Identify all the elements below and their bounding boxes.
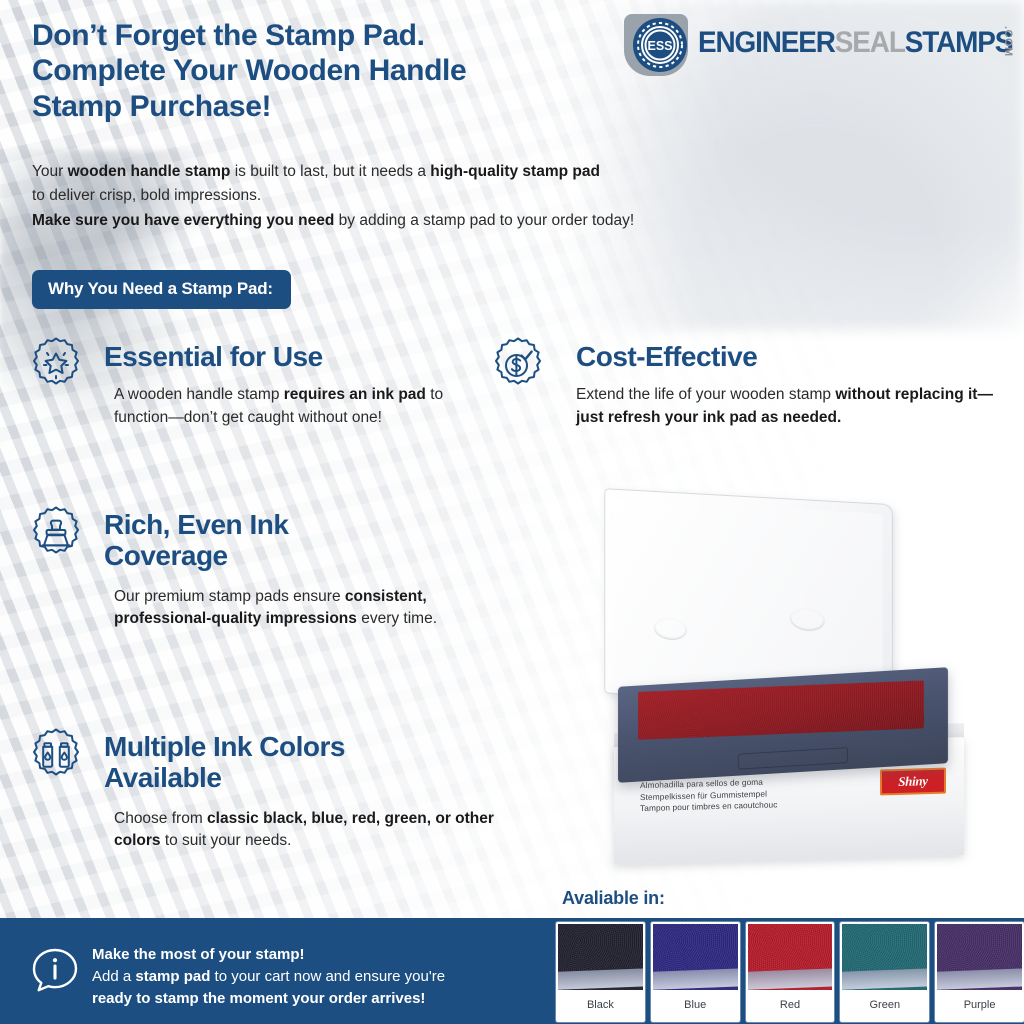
- feature-body-bold: requires an ink pad: [284, 386, 426, 403]
- feature-title-line-1: Multiple Ink Colors: [104, 731, 345, 762]
- feature-body: A wooden handle stamp requires an ink pa…: [114, 384, 499, 429]
- badge-ink-bottles-icon: [28, 727, 84, 783]
- swatch-pad-blue: [653, 924, 738, 990]
- feature-body-pre: A wooden handle stamp: [114, 386, 284, 403]
- shiny-brand-logo: Shiny: [880, 768, 946, 796]
- feature-body: Choose from classic black, blue, red, gr…: [114, 808, 534, 853]
- product-base-tray: [618, 667, 948, 783]
- logo-word-stamps: STAMPS: [905, 26, 1013, 60]
- swatch-label: Blue: [653, 990, 738, 1020]
- ink-color-swatch-list: Black Blue Red Green Purple: [556, 922, 1024, 1022]
- feature-body-pre: Our premium stamp pads ensure: [114, 588, 345, 605]
- footer-message: Make the most of your stamp! Add a stamp…: [92, 944, 542, 1009]
- feature-body: Extend the life of your wooden stamp wit…: [576, 384, 1006, 429]
- swatch-label: Black: [558, 990, 643, 1020]
- intro-line-3: Make sure you have everything you need b…: [32, 209, 902, 233]
- product-base-notch: [738, 747, 848, 770]
- feature-body-pre: Choose from: [114, 810, 207, 827]
- footer-bold-stamp-pad: stamp pad: [135, 968, 210, 985]
- logo-mark-text: ESS: [647, 39, 672, 53]
- badge-stamp-icon: [28, 505, 84, 561]
- swatch-label: Red: [748, 990, 833, 1020]
- badge-star-icon: [28, 336, 84, 392]
- feature-body-pre: Extend the life of your wooden stamp: [576, 386, 835, 403]
- badge-dollar-check-icon: [490, 336, 546, 392]
- logo-word-engineer: ENGINEER: [698, 26, 835, 60]
- swatch-label: Green: [842, 990, 927, 1020]
- swatch-black[interactable]: Black: [556, 922, 645, 1022]
- brand-logo[interactable]: ESS ENGINEERSEALSTAMPS .COM: [624, 14, 1016, 76]
- swatch-red[interactable]: Red: [746, 922, 835, 1022]
- swatch-blue[interactable]: Blue: [651, 922, 740, 1022]
- logo-word-dotcom: .COM: [1002, 26, 1014, 57]
- feature-body: Our premium stamp pads ensure consistent…: [114, 586, 484, 631]
- product-ink-pad-surface: [638, 680, 924, 740]
- swatch-pad-purple: [937, 924, 1022, 990]
- swatch-green[interactable]: Green: [840, 922, 929, 1022]
- intro-text-c: by adding a stamp pad to your order toda…: [334, 212, 634, 229]
- feature-essential-for-use: Essential for Use A wooden handle stamp …: [28, 336, 498, 429]
- footer-text-pre: Add a: [92, 968, 135, 985]
- headline-line-2: Complete Your Wooden Handle: [32, 53, 652, 88]
- gear-icon: ESS: [632, 17, 688, 73]
- intro-line-2: to deliver crisp, bold impressions.: [32, 184, 902, 208]
- product-photo-stamp-pad: Stamp pad for rubber stamps Almohadilla …: [556, 492, 1024, 884]
- swatch-purple[interactable]: Purple: [935, 922, 1024, 1022]
- swatch-pad-green: [842, 924, 927, 990]
- swatch-pad-red: [748, 924, 833, 990]
- footer-line-2: Add a stamp pad to your cart now and ens…: [92, 966, 542, 988]
- info-bubble-icon: [30, 946, 80, 996]
- feature-cost-effective: Cost-Effective Extend the life of your w…: [490, 336, 1020, 429]
- feature-body-post: to suit your needs.: [161, 832, 292, 849]
- feature-title: Rich, Even Ink Coverage: [104, 505, 444, 572]
- feature-title: Essential for Use: [104, 336, 498, 372]
- available-in-label: Avaliable in:: [562, 888, 665, 909]
- feature-title-line-2: Available: [104, 762, 221, 793]
- swatch-pad-black: [558, 924, 643, 990]
- intro-text-a: Your: [32, 163, 68, 180]
- intro-bold-high-quality-stamp-pad: high-quality stamp pad: [430, 163, 600, 180]
- feature-title: Cost-Effective: [576, 336, 1020, 372]
- header: Don’t Forget the Stamp Pad. Complete You…: [0, 0, 1024, 150]
- intro-bold-make-sure: Make sure you have everything you need: [32, 212, 334, 229]
- intro-text-b: is built to last, but it needs a: [230, 163, 430, 180]
- feature-title-line-1: Rich, Even Ink: [104, 509, 288, 540]
- feature-body-post: every time.: [357, 610, 437, 627]
- intro-line-1: Your wooden handle stamp is built to las…: [32, 160, 902, 184]
- shiny-brand-text: Shiny: [898, 773, 928, 790]
- headline-line-3: Stamp Purchase!: [32, 89, 652, 124]
- logo-wordmark: ENGINEERSEALSTAMPS: [698, 22, 1012, 64]
- logo-word-seal: SEAL: [835, 26, 905, 60]
- headline-line-1: Don’t Forget the Stamp Pad.: [32, 18, 652, 53]
- footer-line-3: ready to stamp the moment your order arr…: [92, 988, 542, 1010]
- swatch-label: Purple: [937, 990, 1022, 1020]
- feature-multiple-ink-colors: Multiple Ink Colors Available Choose fro…: [28, 727, 528, 853]
- feature-rich-even-ink-coverage: Rich, Even Ink Coverage Our premium stam…: [28, 505, 458, 631]
- page-title: Don’t Forget the Stamp Pad. Complete You…: [32, 18, 652, 124]
- intro-bold-wooden-handle-stamp: wooden handle stamp: [68, 163, 231, 180]
- feature-title: Multiple Ink Colors Available: [104, 727, 524, 794]
- footer-text-post: to your cart now and ensure you're: [210, 968, 445, 985]
- intro-paragraph: Your wooden handle stamp is built to las…: [32, 160, 902, 233]
- feature-title-line-2: Coverage: [104, 540, 228, 571]
- why-you-need-badge: Why You Need a Stamp Pad:: [32, 270, 291, 309]
- footer-line-1: Make the most of your stamp!: [92, 944, 542, 966]
